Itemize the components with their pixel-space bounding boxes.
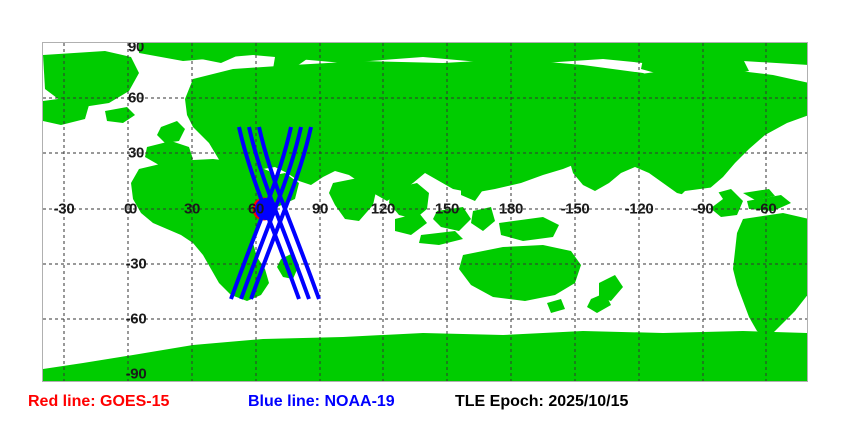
- tick-label-lon--150: -150: [561, 202, 590, 217]
- legend-red-line-goes15: Red line: GOES-15: [28, 392, 169, 412]
- legend-blue-line-noaa19: Blue line: NOAA-19: [248, 392, 395, 412]
- legend-tle-epoch: TLE Epoch: 2025/10/15: [455, 392, 628, 412]
- tick-label-lat--90: -90: [126, 367, 147, 382]
- tick-label-lon-0: 0: [124, 202, 132, 217]
- map-legend-caption: Red line: GOES-15 Blue line: NOAA-19 TLE…: [0, 392, 850, 425]
- tick-label-lon--90: -90: [693, 202, 714, 217]
- tick-label-lat--60: -60: [126, 312, 147, 327]
- tick-label-lon-180: 180: [499, 202, 523, 217]
- satellite-ground-track-figure: 90 60 30 0 -30 -60 -90 -30 0 30 60 90 12…: [0, 0, 850, 425]
- tick-label-lon--30: -30: [54, 202, 75, 217]
- tick-label-lon-150: 150: [435, 202, 459, 217]
- tick-label-lon-30: 30: [184, 202, 200, 217]
- tick-label-lat--30: -30: [126, 257, 147, 272]
- tick-label-lat-60: 60: [128, 91, 144, 106]
- tick-label-lon-120: 120: [371, 202, 395, 217]
- tick-label-lon--120: -120: [625, 202, 654, 217]
- tick-label-lon-60: 60: [248, 202, 264, 217]
- tick-label-lat-90: 90: [128, 42, 144, 55]
- tick-label-lat-30: 30: [128, 146, 144, 161]
- tick-label-lon--60: -60: [756, 202, 777, 217]
- tick-label-lon-90: 90: [312, 202, 328, 217]
- map-plot-area[interactable]: 90 60 30 0 -30 -60 -90 -30 0 30 60 90 12…: [42, 42, 808, 382]
